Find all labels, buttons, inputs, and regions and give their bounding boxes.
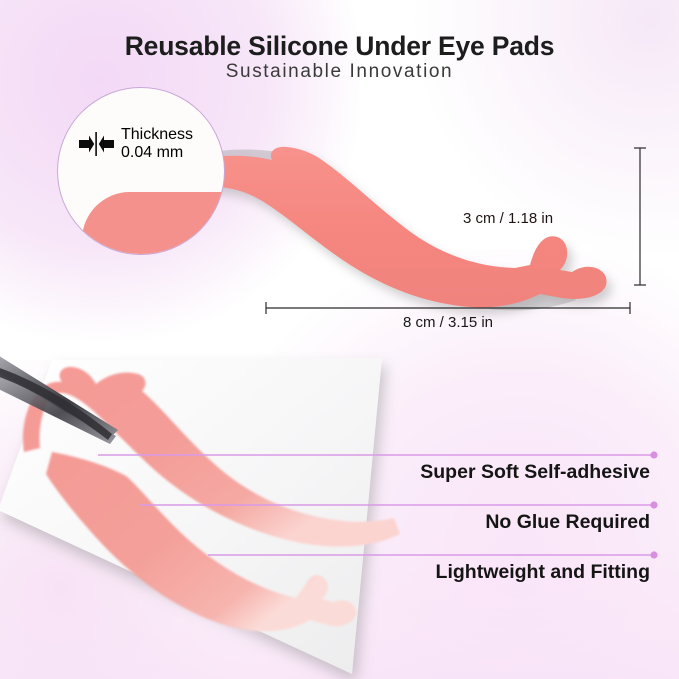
feature-label-1: Super Soft Self-adhesive bbox=[258, 461, 650, 484]
page-title: Reusable Silicone Under Eye Pads bbox=[0, 31, 679, 62]
thickness-label-line2: 0.04 mm bbox=[121, 144, 193, 162]
feature-label-2: No Glue Required bbox=[258, 511, 650, 534]
thickness-text: Thickness 0.04 mm bbox=[121, 126, 193, 162]
thickness-arrows-icon bbox=[78, 131, 115, 157]
dimension-width-label: 8 cm / 3.15 in bbox=[266, 314, 630, 331]
product-infographic: Reusable Silicone Under Eye Pads Sustain… bbox=[0, 0, 679, 679]
feature-label-3: Lightweight and Fitting bbox=[258, 561, 650, 584]
dimension-height-label: 3 cm / 1.18 in bbox=[463, 210, 553, 227]
magnified-pad-tip bbox=[82, 192, 225, 255]
thickness-annotation: Thickness 0.04 mm bbox=[78, 126, 193, 162]
page-subtitle: Sustainable Innovation bbox=[0, 61, 679, 83]
thickness-label-line1: Thickness bbox=[121, 126, 193, 144]
thickness-magnifier: Thickness 0.04 mm bbox=[57, 87, 225, 255]
